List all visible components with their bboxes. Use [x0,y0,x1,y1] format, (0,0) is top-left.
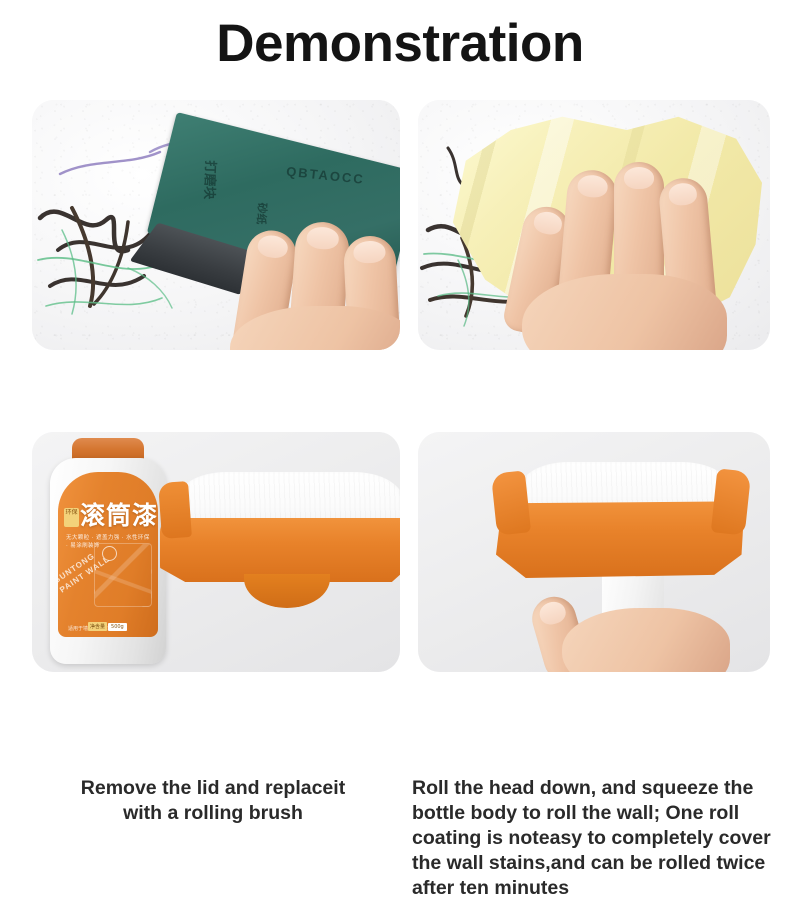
palm [562,608,730,672]
roller-side-wing [158,481,192,539]
fingernail [577,174,609,199]
roller-cradle [496,500,744,578]
demonstration-page: Demonstration [0,0,800,800]
caption-line: after ten minutes [412,876,792,901]
paint-bottle: 环保 滚筒漆 无大颗粒 · 遮盖力强 · 水性环保 · 易涂刷装饰 GUNTON… [50,438,166,664]
caption-line: Roll the head down, and squeeze the [412,776,792,801]
roller-brush-head [152,462,400,642]
roller-side-wing-right [711,468,752,535]
panel-roll-wall [418,432,770,672]
roller-cradle [160,518,400,582]
roller-stem [244,574,330,608]
roller-side-wing-left [491,470,531,535]
panel-keep-dry [418,100,770,350]
label-weight: 净含量 500g [88,622,127,631]
photo-roll-wall [418,432,770,672]
fingernail [667,182,698,206]
weight-value: 500g [108,623,127,631]
hand-squeezing-bottle [538,582,728,672]
caption-line: Remove the lid and replaceit [18,776,408,801]
caption-line: the wall stains,and can be rolled twice [412,851,792,876]
label-eco-badge: 环保 [64,508,79,527]
demo-panel-grid: QBTAOCC 打磨块 砂纸 S 12 When the graffiti co… [0,96,800,800]
photo-replace-lid: 环保 滚筒漆 无大颗粒 · 遮盖力强 · 水性环保 · 易涂刷装饰 GUNTON… [32,432,400,672]
photo-polish-wall: QBTAOCC 打磨块 砂纸 S 12 [32,100,400,350]
fingernail [537,599,568,627]
caption-line: coating is noteasy to completely cover [412,826,792,851]
page-title: Demonstration [0,14,800,74]
label-product-name: 滚筒漆 [80,502,158,529]
bottle-label: 环保 滚筒漆 无大颗粒 · 遮盖力强 · 水性环保 · 易涂刷装饰 GUNTON… [58,472,158,637]
weight-label: 净含量 [88,622,107,631]
panel-replace-lid: 环保 滚筒漆 无大颗粒 · 遮盖力强 · 水性环保 · 易涂刷装饰 GUNTON… [32,432,400,672]
caption-replace-lid: Remove the lid and replaceit with a roll… [18,776,408,826]
fingernail [624,167,654,189]
label-illustration [94,543,152,607]
photo-keep-dry [418,100,770,350]
panel-polish-wall: QBTAOCC 打磨块 砂纸 S 12 [32,100,400,350]
caption-roll-wall: Roll the head down, and squeeze the bott… [412,776,792,901]
fingernail [532,209,565,237]
caption-line: bottle body to roll the wall; One roll [412,801,792,826]
hand-wiping-wall [504,134,736,344]
hand-holding-sanding-block [200,176,400,350]
caption-line: with a rolling brush [18,801,408,826]
fingernail [306,226,340,250]
fingernail [353,240,385,264]
fingernail [256,233,289,259]
